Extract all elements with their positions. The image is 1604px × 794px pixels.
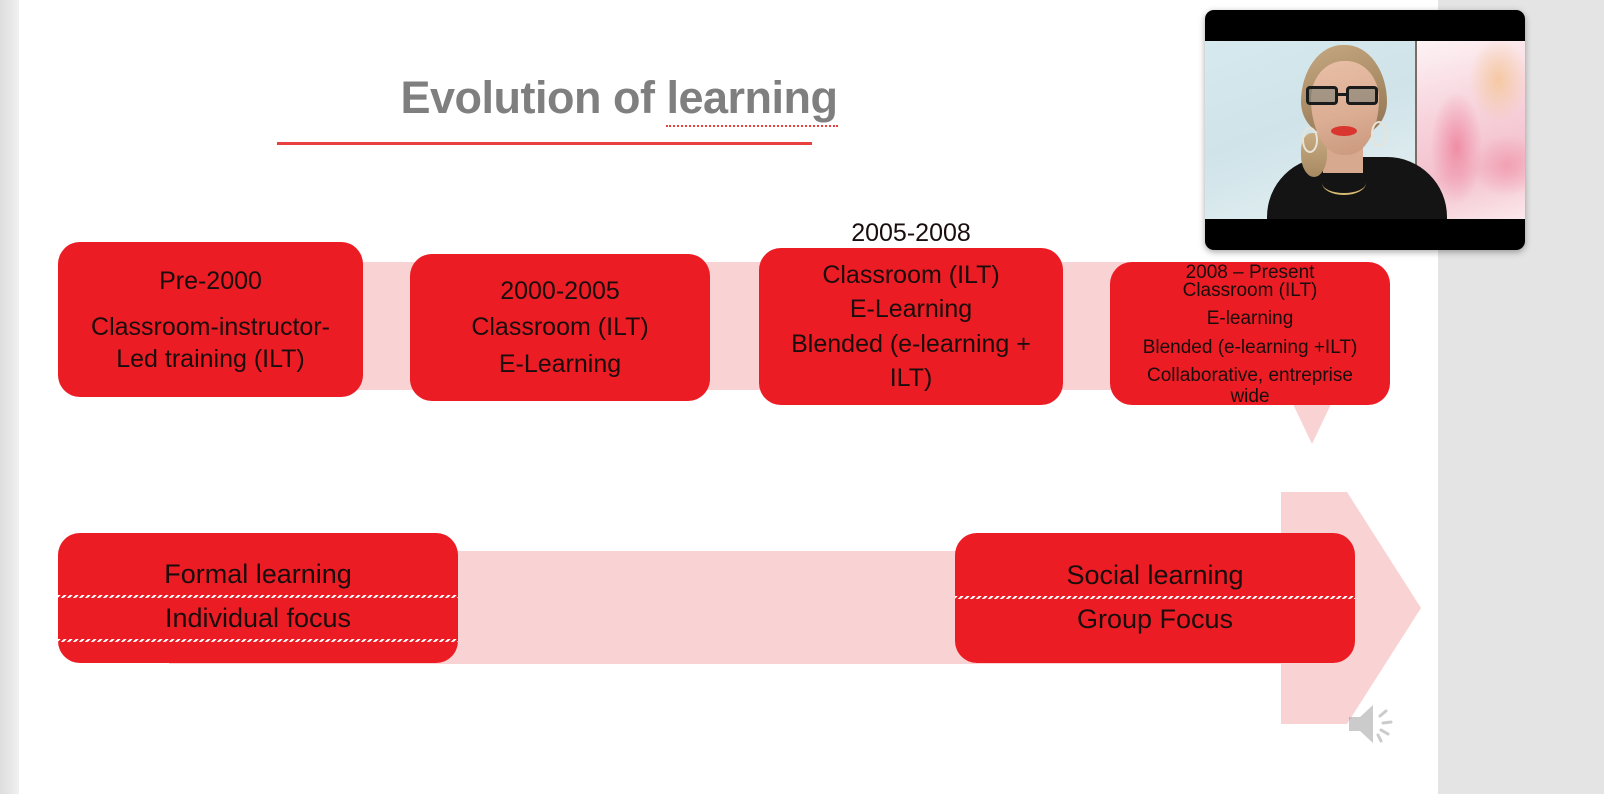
stage-detail-line: Classroom (ILT) — [759, 258, 1063, 293]
page-title-spellcheck-word: learning — [666, 72, 837, 127]
stage-detail-line: Classroom-instructor- — [58, 311, 363, 343]
focus-box-social-learning[interactable]: Social learning Group Focus — [955, 533, 1355, 663]
stage-period-label: 2008 – Present — [1110, 259, 1390, 287]
stage-box-2000-2005[interactable]: 2000-2005 Classroom (ILT) E-Learning — [410, 254, 710, 401]
stage-detail-line: E-Learning — [410, 346, 710, 382]
viewer-left-gutter — [0, 0, 19, 794]
stage-period-label: 2005-2008 — [759, 216, 1063, 251]
stage-box-2005-2008[interactable]: 2005-2008 Classroom (ILT) E-Learning Ble… — [759, 248, 1063, 405]
speaker-icon[interactable] — [1345, 700, 1399, 748]
glasses-lens-right — [1346, 86, 1378, 105]
stage-detail-line: wide — [1110, 383, 1390, 411]
title-underline-rule — [277, 142, 812, 145]
presenter-webcam[interactable] — [1205, 10, 1525, 250]
stage-detail-line: ILT) — [759, 361, 1063, 396]
presenter-lips — [1331, 126, 1357, 136]
focus-box-formal-learning[interactable]: Formal learning Individual focus — [58, 533, 458, 663]
stage-detail-line: E-Learning — [759, 292, 1063, 327]
page-title: Evolution of learning — [269, 72, 969, 124]
stage-period-label: Pre-2000 — [58, 265, 363, 297]
stage-detail-line: Led training (ILT) — [58, 343, 363, 375]
page-title-text-plain: Evolution of — [400, 72, 666, 123]
focus-line: Formal learning — [58, 554, 458, 598]
presenter-glasses — [1306, 86, 1384, 105]
stage-detail-line: Blended (e-learning + — [759, 327, 1063, 362]
slide-viewer: Evolution of learning Pre-2000 Classroom… — [0, 0, 1604, 794]
stage-box-2008-present[interactable]: 2008 – Present Classroom (ILT) E-learnin… — [1110, 262, 1390, 405]
presenter-earring-right — [1371, 121, 1387, 147]
stage-detail-line: E-learning — [1110, 305, 1390, 333]
stage-period-label: 2000-2005 — [410, 273, 710, 309]
focus-line: Social learning — [955, 555, 1355, 599]
focus-line: Group Focus — [955, 599, 1355, 641]
presenter-necklace — [1322, 171, 1366, 195]
stage-box-pre-2000[interactable]: Pre-2000 Classroom-instructor- Led train… — [58, 242, 363, 397]
presenter-earring-left — [1302, 127, 1318, 153]
stage-detail-line: Classroom (ILT) — [410, 309, 710, 345]
focus-line: Individual focus — [58, 598, 458, 642]
stage-detail-line: Blended (e-learning +ILT) — [1110, 334, 1390, 362]
glasses-lens-left — [1306, 86, 1338, 105]
webcam-video-feed — [1205, 41, 1525, 219]
